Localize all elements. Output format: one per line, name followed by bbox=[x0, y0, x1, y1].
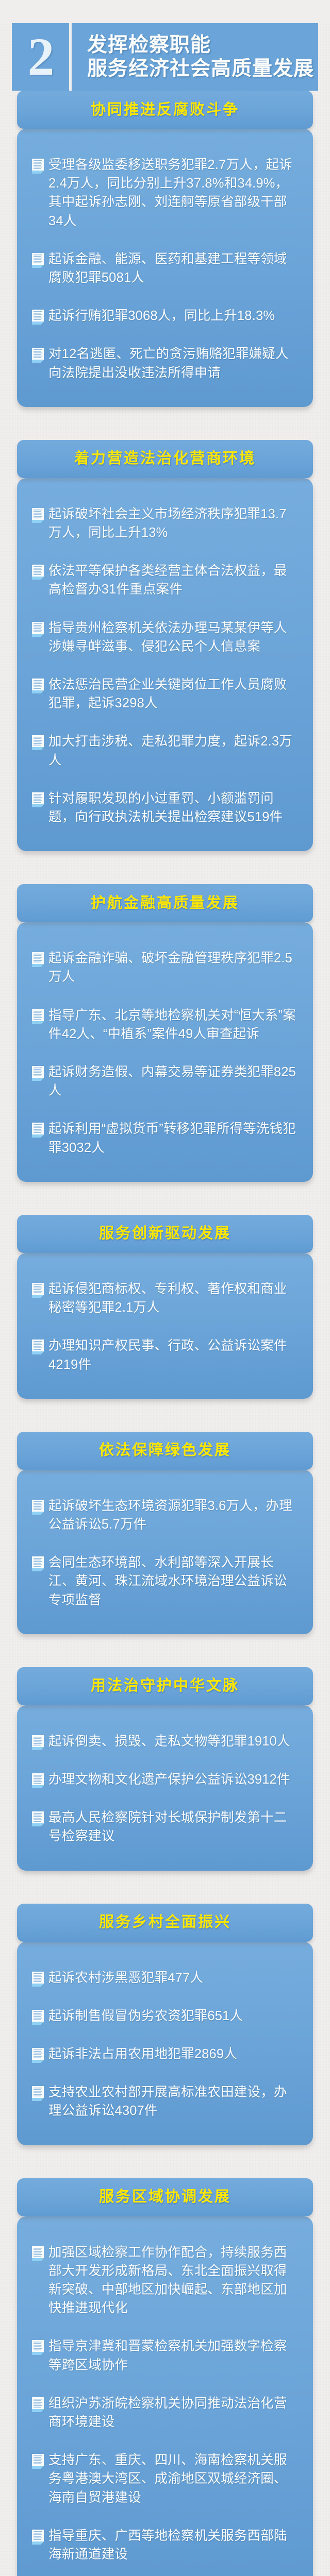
document-icon bbox=[31, 1065, 44, 1081]
section-banner-title: 服务创新驱动发展 bbox=[99, 1225, 231, 1243]
list-item: 起诉倒卖、损毁、走私文物等犯罪1910人 bbox=[31, 1732, 299, 1751]
section-card: 起诉金融诈骗、破坏金融管理秩序犯罪2.5万人指导广东、北京等地检察机关对“恒大系… bbox=[17, 922, 313, 1182]
section-banner[interactable]: 着力营造法治化营商环境 bbox=[17, 440, 313, 478]
document-icon bbox=[31, 1735, 44, 1750]
section: 服务乡村全面振兴起诉农村涉黑恶犯罪477人起诉制售假冒伪劣农资犯罪651人起诉非… bbox=[0, 1904, 330, 2145]
section-gap bbox=[0, 1871, 330, 1904]
section-card: 加强区域检察工作协作配合，持续服务西部大开发形成新格局、东北全面振兴取得新突破、… bbox=[17, 2216, 313, 2576]
list-item: 办理文物和文化遗产保护公益诉讼3912件 bbox=[31, 1770, 299, 1789]
bullet-list: 受理各级监委移送职务犯罪2.7万人，起诉2.4万人，同比分别上升37.8%和34… bbox=[31, 156, 299, 382]
list-item: 起诉金融、能源、医药和基建工程等领域腐败犯罪5081人 bbox=[31, 250, 299, 287]
section-card: 起诉侵犯商标权、专利权、著作权和商业秘密等犯罪2.1万人办理知识产权民事、行政、… bbox=[17, 1253, 313, 1399]
list-item-text: 办理知识产权民事、行政、公益诉讼案件4219件 bbox=[48, 1336, 299, 1374]
list-item-text: 受理各级监委移送职务犯罪2.7万人，起诉2.4万人，同比分别上升37.8%和34… bbox=[48, 156, 299, 230]
page-header: 2 发挥检察职能 服务经济社会高质量发展 bbox=[12, 23, 318, 91]
list-item: 依法平等保护各类经营主体合法权益，最高检督办31件重点案件 bbox=[31, 562, 299, 599]
document-icon bbox=[31, 792, 44, 807]
list-item-text: 起诉金融诈骗、破坏金融管理秩序犯罪2.5万人 bbox=[48, 949, 299, 986]
list-item-text: 组织沪苏浙皖检察机关协同推动法治化营商环境建设 bbox=[48, 2394, 299, 2431]
bullet-list: 起诉农村涉黑恶犯罪477人起诉制售假冒伪劣农资犯罪651人起诉非法占用农用地犯罪… bbox=[31, 1969, 299, 2121]
section-gap bbox=[0, 1399, 330, 1432]
section: 着力营造法治化营商环境起诉破坏社会主义市场经济秩序犯罪13.7万人，同比上升13… bbox=[0, 440, 330, 851]
document-icon bbox=[31, 1556, 44, 1571]
document-icon bbox=[31, 347, 44, 363]
sections-container: 协同推进反腐败斗争受理各级监委移送职务犯罪2.7万人，起诉2.4万人，同比分别上… bbox=[0, 91, 330, 2576]
document-icon bbox=[31, 1773, 44, 1788]
document-icon bbox=[31, 2397, 44, 2412]
list-item-text: 起诉倒卖、损毁、走私文物等犯罪1910人 bbox=[48, 1732, 299, 1751]
document-icon bbox=[31, 2246, 44, 2261]
section: 协同推进反腐败斗争受理各级监委移送职务犯罪2.7万人，起诉2.4万人，同比分别上… bbox=[0, 91, 330, 407]
list-item: 起诉破坏社会主义市场经济秩序犯罪13.7万人，同比上升13% bbox=[31, 505, 299, 542]
document-icon bbox=[31, 2009, 44, 2025]
document-icon bbox=[31, 2453, 44, 2469]
list-item: 起诉制售假冒伪劣农资犯罪651人 bbox=[31, 2007, 299, 2025]
list-item: 起诉农村涉黑恶犯罪477人 bbox=[31, 1969, 299, 1987]
list-item: 指导广东、北京等地检察机关对“恒大系”案件42人、“中植系”案件49人审查起诉 bbox=[31, 1006, 299, 1043]
document-icon bbox=[31, 2086, 44, 2101]
bullet-list: 起诉破坏生态环境资源犯罪3.6万人，办理公益诉讼5.7万件会同生态环境部、水利部… bbox=[31, 1497, 299, 1609]
bullet-list: 加强区域检察工作协作配合，持续服务西部大开发形成新格局、东北全面振兴取得新突破、… bbox=[31, 2243, 299, 2564]
section-banner[interactable]: 用法治守护中华文脉 bbox=[17, 1667, 313, 1705]
section: 用法治守护中华文脉起诉倒卖、损毁、走私文物等犯罪1910人办理文物和文化遗产保护… bbox=[0, 1667, 330, 1871]
section: 服务区域协调发展加强区域检察工作协作配合，持续服务西部大开发形成新格局、东北全面… bbox=[0, 2178, 330, 2576]
section-number: 2 bbox=[28, 30, 54, 84]
list-item: 加大打击涉税、走私犯罪力度，起诉2.3万人 bbox=[31, 732, 299, 769]
section-banner-title: 服务乡村全面振兴 bbox=[99, 1913, 231, 1931]
section-gap bbox=[0, 1634, 330, 1667]
infographic-page: 2 发挥检察职能 服务经济社会高质量发展 协同推进反腐败斗争受理各级监委移送职务… bbox=[0, 23, 330, 2576]
list-item-text: 指导贵州检察机关依法办理马某某伊等人涉嫌寻衅滋事、侵犯公民个人信息案 bbox=[48, 619, 299, 656]
list-item: 指导贵州检察机关依法办理马某某伊等人涉嫌寻衅滋事、侵犯公民个人信息案 bbox=[31, 619, 299, 656]
document-icon bbox=[31, 678, 44, 693]
list-item: 起诉非法占用农用地犯罪2869人 bbox=[31, 2045, 299, 2063]
section-gap bbox=[0, 1182, 330, 1215]
list-item: 起诉财务造假、内幕交易等证券类犯罪825人 bbox=[31, 1063, 299, 1100]
page-title-line-2: 服务经济社会高质量发展 bbox=[87, 57, 318, 80]
section-number-badge: 2 bbox=[12, 23, 69, 91]
section-banner[interactable]: 服务区域协调发展 bbox=[17, 2178, 313, 2216]
list-item: 起诉行贿犯罪3068人，同比上升18.3% bbox=[31, 307, 299, 325]
list-item-text: 指导广东、北京等地检察机关对“恒大系”案件42人、“中植系”案件49人审查起诉 bbox=[48, 1006, 299, 1043]
list-item-text: 起诉制售假冒伪劣农资犯罪651人 bbox=[48, 2007, 299, 2025]
document-icon bbox=[31, 1282, 44, 1298]
section-gap bbox=[0, 851, 330, 884]
list-item-text: 起诉行贿犯罪3068人，同比上升18.3% bbox=[48, 307, 299, 325]
section-card: 起诉破坏生态环境资源犯罪3.6万人，办理公益诉讼5.7万件会同生态环境部、水利部… bbox=[17, 1470, 313, 1634]
list-item-text: 起诉破坏社会主义市场经济秩序犯罪13.7万人，同比上升13% bbox=[48, 505, 299, 542]
document-icon bbox=[31, 2340, 44, 2355]
document-icon bbox=[31, 735, 44, 750]
list-item: 支持农业农村部开展高标准农田建设，办理公益诉讼4307件 bbox=[31, 2083, 299, 2120]
list-item-text: 起诉财务造假、内幕交易等证券类犯罪825人 bbox=[48, 1063, 299, 1100]
section-banner[interactable]: 服务乡村全面振兴 bbox=[17, 1904, 313, 1942]
bullet-list: 起诉侵犯商标权、专利权、著作权和商业秘密等犯罪2.1万人办理知识产权民事、行政、… bbox=[31, 1280, 299, 1374]
list-item: 起诉破坏生态环境资源犯罪3.6万人，办理公益诉讼5.7万件 bbox=[31, 1497, 299, 1534]
document-icon bbox=[31, 158, 44, 174]
list-item: 支持广东、重庆、四川、海南检察机关服务粤港澳大湾区、成渝地区双城经济圈、海南自贸… bbox=[31, 2451, 299, 2507]
section-banner[interactable]: 服务创新驱动发展 bbox=[17, 1215, 313, 1253]
list-item-text: 起诉非法占用农用地犯罪2869人 bbox=[48, 2045, 299, 2063]
section-banner[interactable]: 协同推进反腐败斗争 bbox=[17, 91, 313, 129]
list-item-text: 支持广东、重庆、四川、海南检察机关服务粤港澳大湾区、成渝地区双城经济圈、海南自贸… bbox=[48, 2451, 299, 2507]
list-item: 依法惩治民营企业关键岗位工作人员腐败犯罪，起诉3298人 bbox=[31, 675, 299, 713]
list-item: 加强区域检察工作协作配合，持续服务西部大开发形成新格局、东北全面振兴取得新突破、… bbox=[31, 2243, 299, 2318]
document-icon bbox=[31, 1499, 44, 1515]
section-card: 受理各级监委移送职务犯罪2.7万人，起诉2.4万人，同比分别上升37.8%和34… bbox=[17, 129, 313, 407]
document-icon bbox=[31, 507, 44, 523]
section-gap bbox=[0, 2145, 330, 2178]
list-item-text: 最高人民检察院针对长城保护制发第十二号检察建议 bbox=[48, 1808, 299, 1845]
section-banner-title: 服务区域协调发展 bbox=[99, 2188, 231, 2206]
section-banner-title: 依法保障绿色发展 bbox=[99, 1442, 231, 1460]
list-item: 对12名逃匿、死亡的贪污贿赂犯罪嫌疑人向法院提出没收违法所得申请 bbox=[31, 345, 299, 382]
document-icon bbox=[31, 952, 44, 967]
list-item-text: 会同生态环境部、水利部等深入开展长江、黄河、珠江流域水环境治理公益诉讼专项监督 bbox=[48, 1553, 299, 1609]
document-icon bbox=[31, 621, 44, 637]
list-item-text: 指导重庆、广西等地检察机关服务西部陆海新通道建设 bbox=[48, 2527, 299, 2564]
list-item: 针对履职发现的小过重罚、小额滥罚问题，向行政执法机关提出检察建议519件 bbox=[31, 789, 299, 826]
list-item-text: 起诉金融、能源、医药和基建工程等领域腐败犯罪5081人 bbox=[48, 250, 299, 287]
section-card: 起诉破坏社会主义市场经济秩序犯罪13.7万人，同比上升13%依法平等保护各类经营… bbox=[17, 478, 313, 851]
section-card: 起诉倒卖、损毁、走私文物等犯罪1910人办理文物和文化遗产保护公益诉讼3912件… bbox=[17, 1705, 313, 1871]
bullet-list: 起诉金融诈骗、破坏金融管理秩序犯罪2.5万人指导广东、北京等地检察机关对“恒大系… bbox=[31, 949, 299, 1157]
list-item-text: 支持农业农村部开展高标准农田建设，办理公益诉讼4307件 bbox=[48, 2083, 299, 2120]
list-item: 最高人民检察院针对长城保护制发第十二号检察建议 bbox=[31, 1808, 299, 1845]
document-icon bbox=[31, 2047, 44, 2063]
list-item: 组织沪苏浙皖检察机关协同推动法治化营商环境建设 bbox=[31, 2394, 299, 2431]
document-icon bbox=[31, 1971, 44, 1987]
list-item-text: 办理文物和文化遗产保护公益诉讼3912件 bbox=[48, 1770, 299, 1789]
list-item-text: 指导京津冀和晋蒙检察机关加强数字检察等跨区域协作 bbox=[48, 2337, 299, 2374]
document-icon bbox=[31, 1811, 44, 1826]
document-icon bbox=[31, 2529, 44, 2545]
section-banner[interactable]: 护航金融高质量发展 bbox=[17, 884, 313, 922]
document-icon bbox=[31, 1339, 44, 1354]
section-banner-title: 协同推进反腐败斗争 bbox=[91, 101, 239, 119]
section-gap bbox=[0, 407, 330, 440]
list-item: 指导京津冀和晋蒙检察机关加强数字检察等跨区域协作 bbox=[31, 2337, 299, 2374]
section-banner-title: 护航金融高质量发展 bbox=[91, 894, 239, 912]
list-item-text: 起诉利用“虚拟货币”转移犯罪所得等洗钱犯罪3032人 bbox=[48, 1120, 299, 1157]
list-item-text: 对12名逃匿、死亡的贪污贿赂犯罪嫌疑人向法院提出没收违法所得申请 bbox=[48, 345, 299, 382]
list-item: 受理各级监委移送职务犯罪2.7万人，起诉2.4万人，同比分别上升37.8%和34… bbox=[31, 156, 299, 230]
list-item: 指导重庆、广西等地检察机关服务西部陆海新通道建设 bbox=[31, 2527, 299, 2564]
section-banner-title: 着力营造法治化营商环境 bbox=[74, 450, 256, 468]
list-item: 起诉金融诈骗、破坏金融管理秩序犯罪2.5万人 bbox=[31, 949, 299, 986]
list-item-text: 针对履职发现的小过重罚、小额滥罚问题，向行政执法机关提出检察建议519件 bbox=[48, 789, 299, 826]
document-icon bbox=[31, 309, 44, 325]
page-title-line-1: 发挥检察职能 bbox=[87, 33, 318, 57]
list-item-text: 起诉侵犯商标权、专利权、著作权和商业秘密等犯罪2.1万人 bbox=[48, 1280, 299, 1317]
document-icon bbox=[31, 564, 44, 580]
bullet-list: 起诉倒卖、损毁、走私文物等犯罪1910人办理文物和文化遗产保护公益诉讼3912件… bbox=[31, 1732, 299, 1846]
section-card: 起诉农村涉黑恶犯罪477人起诉制售假冒伪劣农资犯罪651人起诉非法占用农用地犯罪… bbox=[17, 1942, 313, 2145]
document-icon bbox=[31, 1009, 44, 1024]
list-item: 会同生态环境部、水利部等深入开展长江、黄河、珠江流域水环境治理公益诉讼专项监督 bbox=[31, 1553, 299, 1609]
list-item-text: 加强区域检察工作协作配合，持续服务西部大开发形成新格局、东北全面振兴取得新突破、… bbox=[48, 2243, 299, 2318]
section-banner-title: 用法治守护中华文脉 bbox=[91, 1677, 239, 1695]
document-icon bbox=[31, 252, 44, 268]
section: 依法保障绿色发展起诉破坏生态环境资源犯罪3.6万人，办理公益诉讼5.7万件会同生… bbox=[0, 1432, 330, 1634]
list-item-text: 依法平等保护各类经营主体合法权益，最高检督办31件重点案件 bbox=[48, 562, 299, 599]
section: 护航金融高质量发展起诉金融诈骗、破坏金融管理秩序犯罪2.5万人指导广东、北京等地… bbox=[0, 884, 330, 1182]
section: 服务创新驱动发展起诉侵犯商标权、专利权、著作权和商业秘密等犯罪2.1万人办理知识… bbox=[0, 1215, 330, 1399]
list-item: 起诉利用“虚拟货币”转移犯罪所得等洗钱犯罪3032人 bbox=[31, 1120, 299, 1157]
bullet-list: 起诉破坏社会主义市场经济秩序犯罪13.7万人，同比上升13%依法平等保护各类经营… bbox=[31, 505, 299, 826]
section-banner[interactable]: 依法保障绿色发展 bbox=[17, 1432, 313, 1470]
list-item-text: 起诉破坏生态环境资源犯罪3.6万人，办理公益诉讼5.7万件 bbox=[48, 1497, 299, 1534]
document-icon bbox=[31, 1122, 44, 1138]
page-title: 发挥检察职能 服务经济社会高质量发展 bbox=[72, 23, 318, 91]
list-item-text: 依法惩治民营企业关键岗位工作人员腐败犯罪，起诉3298人 bbox=[48, 675, 299, 713]
list-item-text: 加大打击涉税、走私犯罪力度，起诉2.3万人 bbox=[48, 732, 299, 769]
list-item: 起诉侵犯商标权、专利权、著作权和商业秘密等犯罪2.1万人 bbox=[31, 1280, 299, 1317]
list-item: 办理知识产权民事、行政、公益诉讼案件4219件 bbox=[31, 1336, 299, 1374]
list-item-text: 起诉农村涉黑恶犯罪477人 bbox=[48, 1969, 299, 1987]
